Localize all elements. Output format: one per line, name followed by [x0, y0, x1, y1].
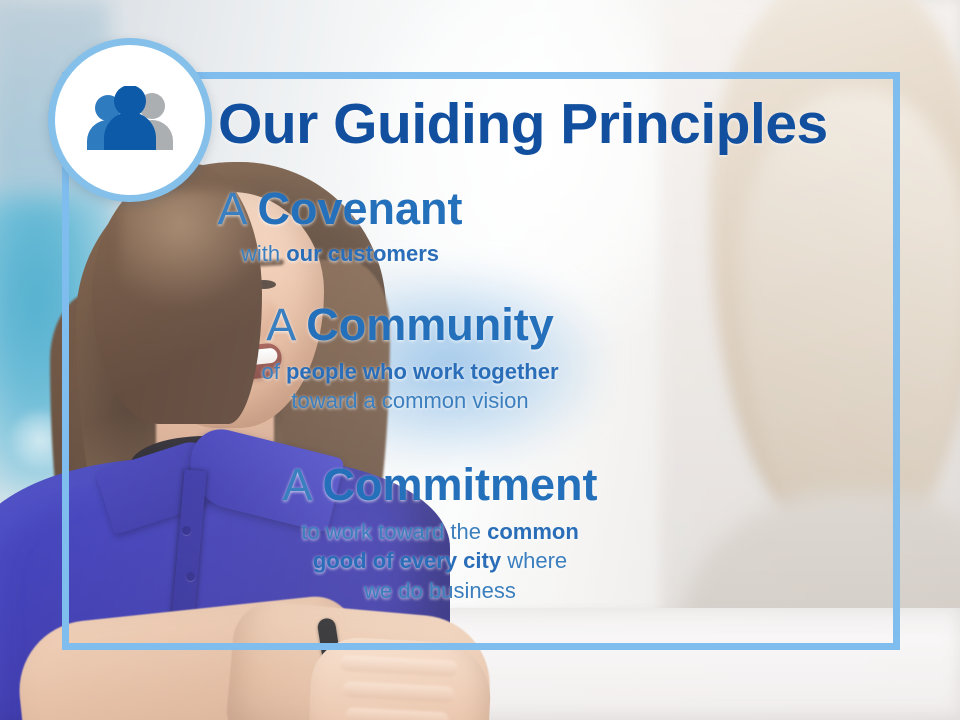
finger: [339, 655, 458, 677]
principle-subtext-line: of people who work together: [0, 357, 820, 387]
principle-subtext-line: we do business: [0, 576, 880, 606]
principle-lead: A: [282, 459, 322, 510]
subtext-segment: where: [501, 548, 567, 573]
people-group-icon: [80, 86, 180, 154]
principle-community: A Community of people who work together …: [0, 302, 820, 416]
page-title: Our Guiding Principles: [218, 96, 878, 153]
guiding-principles-graphic: FLOW AUTOMOTIVE FLOW: [0, 0, 960, 720]
subtext-segment: we do business: [364, 578, 516, 603]
subtext-segment: to work toward the: [301, 519, 487, 544]
people-group-badge: [48, 38, 212, 202]
principle-subtext-line: good of every city where: [0, 546, 880, 576]
subtext-segment-bold: our customers: [286, 241, 439, 266]
subtext-segment: toward a common vision: [291, 388, 528, 413]
finger: [342, 681, 455, 703]
principle-subtext: with our customers: [0, 239, 680, 269]
principle-subtext-line: with our customers: [0, 239, 680, 269]
principle-keyword: Commitment: [323, 459, 598, 510]
principle-subtext: to work toward the common good of every …: [0, 517, 880, 606]
principle-lead: A: [266, 299, 306, 350]
principle-heading: A Community: [0, 302, 820, 349]
principle-heading: A Commitment: [0, 462, 880, 509]
principle-lead: A: [217, 183, 257, 234]
principle-heading: A Covenant: [0, 186, 680, 233]
subtext-segment-bold: common: [487, 519, 579, 544]
principle-keyword: Community: [306, 299, 554, 350]
principle-keyword: Covenant: [258, 183, 463, 234]
subtext-segment-bold: people who work together: [286, 359, 559, 384]
principle-subtext-line: toward a common vision: [0, 386, 820, 416]
principle-commitment: A Commitment to work toward the common g…: [0, 462, 880, 606]
principle-covenant: A Covenant with our customers: [0, 186, 680, 268]
subtext-segment: with: [241, 241, 286, 266]
subtext-segment: of: [261, 359, 285, 384]
subtext-segment-bold: good of every city: [313, 548, 501, 573]
principle-subtext-line: to work toward the common: [0, 517, 880, 547]
principle-subtext: of people who work together toward a com…: [0, 357, 820, 416]
finger: [345, 707, 450, 720]
